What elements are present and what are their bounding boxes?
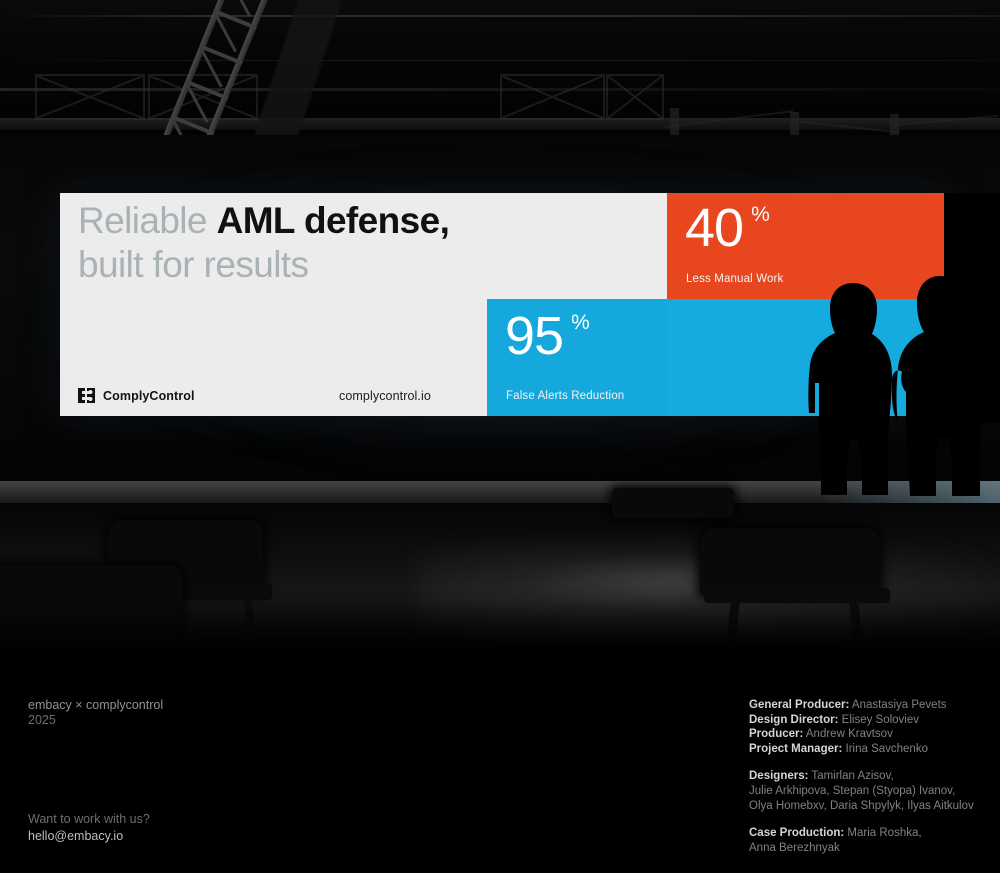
credit-names: Elisey Soloviev [838, 714, 919, 726]
ceiling-beam-line [0, 15, 1000, 17]
credit-names: Maria Roshka, [844, 827, 921, 839]
credits-core-team: General Producer: Anastasiya Pevets Desi… [749, 698, 979, 756]
complycontrol-logo-icon [78, 388, 95, 403]
credit-line: Olya Homebxv, Daria Shpylyk, Ilyas Aitku… [749, 799, 979, 814]
footer-year: 2025 [28, 713, 163, 728]
brand-website: complycontrol.io [339, 389, 431, 403]
credits-case-production: Case Production: Maria Roshka, Anna Bere… [749, 826, 979, 855]
credit-line: General Producer: Anastasiya Pevets [749, 698, 979, 713]
headline-text: Reliable AML defense, built for results [78, 199, 449, 287]
stat-percent-sign: % [751, 203, 770, 227]
stat-percent-sign: % [571, 311, 590, 335]
credit-names: Anastasiya Pevets [849, 699, 946, 711]
bottom-vignette [0, 600, 1000, 660]
footer: embacy × complycontrol 2025 Want to work… [0, 660, 1000, 873]
stat-number: 95 [505, 305, 563, 367]
credit-line: Project Manager: Irina Savchenko [749, 742, 979, 757]
credit-line: Designers: Tamirlan Azisov, [749, 769, 979, 784]
presentation-slide: Reliable AML defense, built for results … [0, 0, 1000, 873]
stat-card-false-alerts-reduction: 95% False Alerts Reduction [487, 299, 667, 416]
credit-role: Designers: [749, 770, 808, 782]
headline-panel: Reliable AML defense, built for results [60, 193, 667, 299]
credit-role: Design Director: [749, 714, 838, 726]
truss-leg [670, 108, 679, 136]
stat-label: Less Manual Work [686, 273, 783, 285]
chair-back [612, 488, 734, 518]
chair-back [700, 528, 880, 596]
truss-segment [606, 74, 664, 120]
footer-credits: General Producer: Anastasiya Pevets Desi… [749, 698, 979, 855]
credit-names: Andrew Kravtsov [803, 728, 892, 740]
credit-role: General Producer: [749, 699, 849, 711]
credit-line: Producer: Andrew Kravtsov [749, 727, 979, 742]
stat-value-group: 40% [685, 197, 770, 259]
contact-email-link[interactable]: hello@embacy.io [28, 829, 123, 843]
credit-line: Julie Arkhipova, Stepan (Styopa) Ivanov, [749, 784, 979, 799]
brand-panel: ComplyControl complycontrol.io [60, 299, 487, 416]
headline-second-line: built for results [78, 244, 308, 285]
stat-number: 40 [685, 197, 743, 259]
credit-line: Anna Berezhnyak [749, 841, 979, 856]
credit-line: Design Director: Elisey Soloviev [749, 713, 979, 728]
footer-contact-block: Want to work with us? hello@embacy.io [28, 812, 150, 845]
credit-line: Case Production: Maria Roshka, [749, 826, 979, 841]
stat-value-group: 95% [505, 305, 590, 367]
credit-names: Tamirlan Azisov, [808, 770, 893, 782]
credit-names: Irina Savchenko [842, 743, 928, 755]
credit-role: Project Manager: [749, 743, 842, 755]
footer-project-name: embacy × complycontrol [28, 698, 163, 713]
ceiling-beam-line [0, 60, 1000, 61]
credit-role: Producer: [749, 728, 803, 740]
footer-project-block: embacy × complycontrol 2025 [28, 698, 163, 727]
truss-segment [500, 74, 605, 120]
brand-name: ComplyControl [103, 389, 195, 403]
headline-light: Reliable [78, 200, 207, 241]
stat-label: False Alerts Reduction [506, 390, 624, 402]
truss-segment [35, 74, 145, 120]
truss-brace [228, 0, 251, 17]
credit-role: Case Production: [749, 827, 844, 839]
credits-designers: Designers: Tamirlan Azisov, Julie Arkhip… [749, 769, 979, 813]
contact-question: Want to work with us? [28, 812, 150, 827]
headline-bold: AML defense, [217, 200, 450, 241]
right-wall-edge [944, 193, 1000, 423]
